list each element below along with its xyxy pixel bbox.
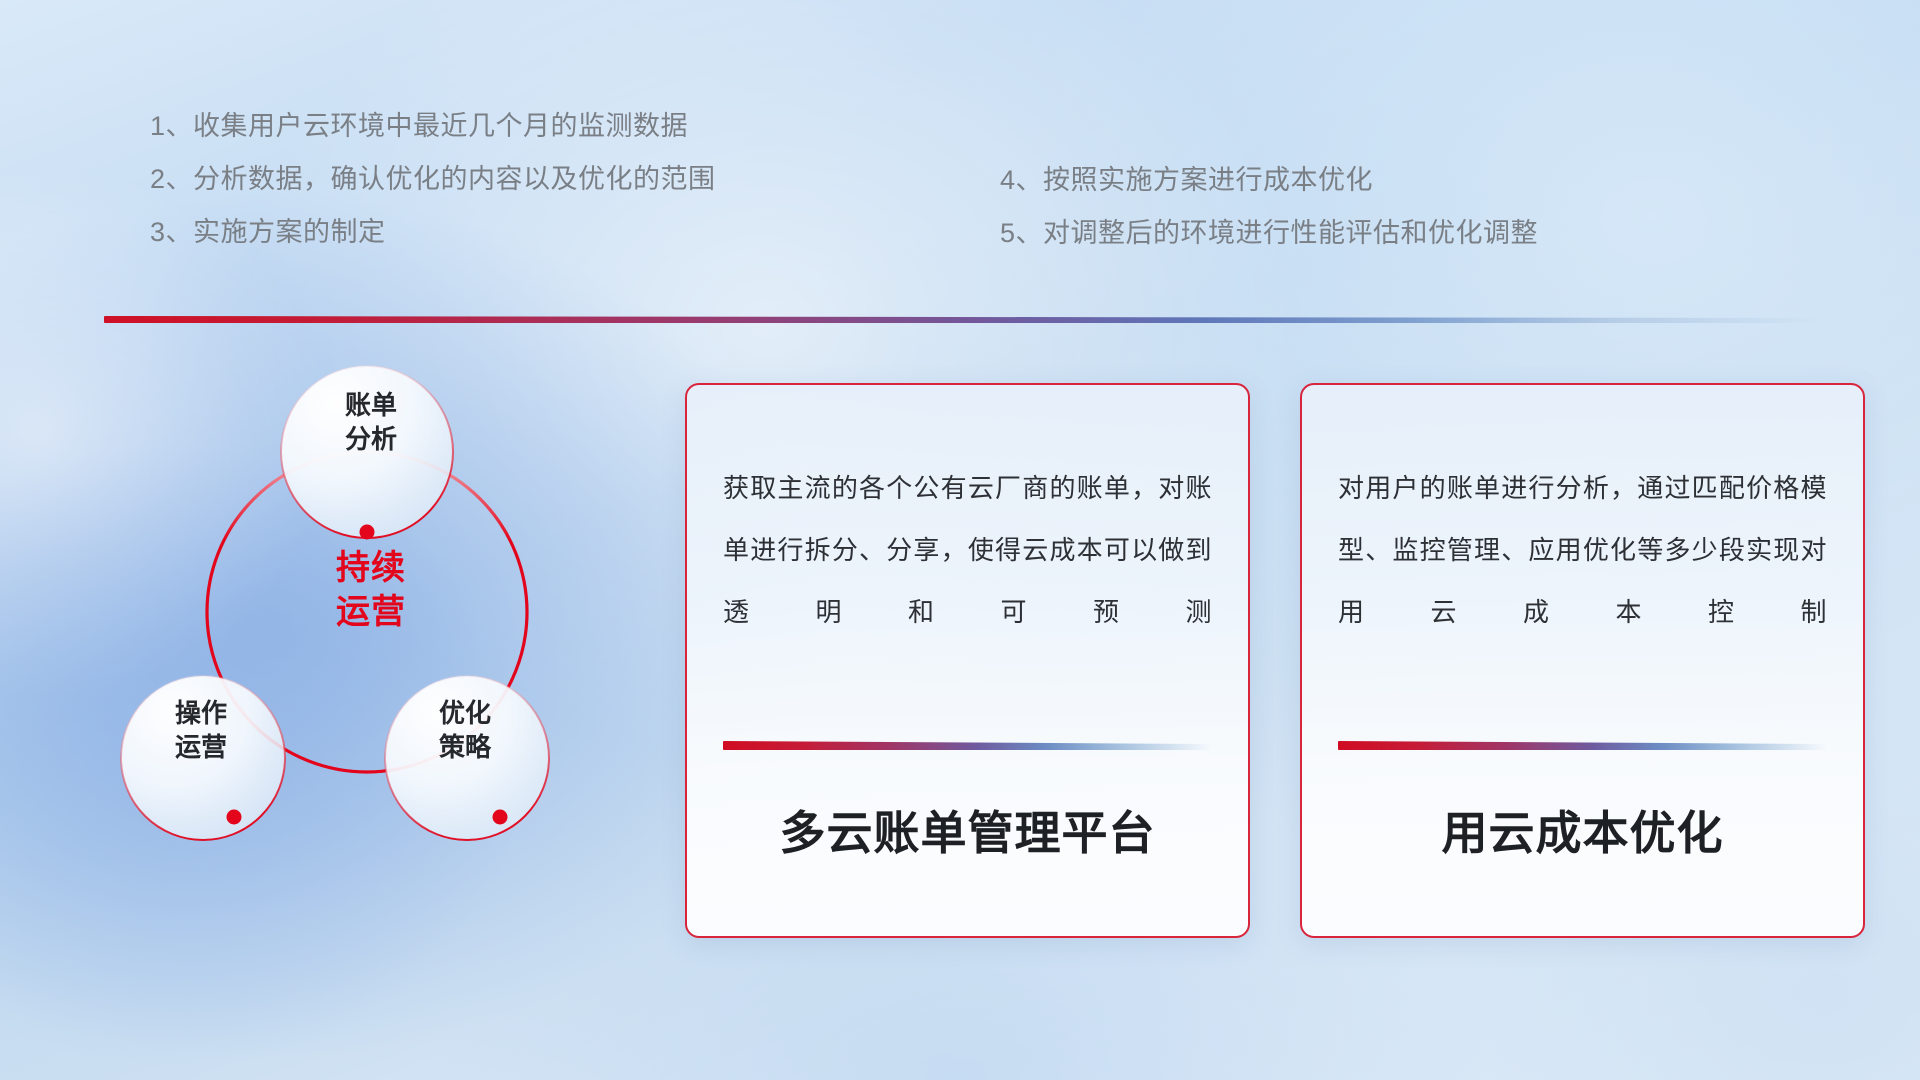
diagram-center-label-line1: 持续 [281, 546, 461, 590]
step-item-3: 3、实施方案的制定 [150, 206, 716, 259]
node-label-operations-line2: 运营 [121, 730, 281, 764]
card-title: 多云账单管理平台 [687, 797, 1248, 863]
node-label-operations-line1: 操作 [121, 696, 281, 730]
node-label-billing-analysis: 账单 分析 [291, 388, 451, 456]
connector-dot-right [493, 810, 508, 825]
card-cloud-cost-optimization[interactable]: 对用户的账单进行分析，通过匹配价格模型、监控管理、应用优化等多少段实现对用云成本… [1300, 383, 1865, 938]
card-divider [1338, 741, 1827, 750]
node-label-billing-analysis-line1: 账单 [291, 388, 451, 422]
card-title: 用云成本优化 [1302, 797, 1863, 863]
step-item-4: 4、按照实施方案进行成本优化 [1000, 154, 1538, 207]
diagram-center-label-line2: 运营 [281, 590, 461, 634]
card-body-text: 获取主流的各个公有云厂商的账单，对账单进行拆分、分享，使得云成本可以做到透明和可… [723, 457, 1212, 643]
card-multi-cloud-billing-platform[interactable]: 获取主流的各个公有云厂商的账单，对账单进行拆分、分享，使得云成本可以做到透明和可… [685, 383, 1250, 938]
node-label-billing-analysis-line2: 分析 [291, 422, 451, 456]
node-label-optimization-line2: 策略 [385, 730, 545, 764]
step-item-2: 2、分析数据，确认优化的内容以及优化的范围 [150, 153, 716, 206]
continuous-operations-diagram: 账单 分析 操作 运营 优化 策略 持续 运营 [95, 340, 635, 940]
connector-dot-top [360, 525, 375, 540]
card-body-text: 对用户的账单进行分析，通过匹配价格模型、监控管理、应用优化等多少段实现对用云成本… [1338, 457, 1827, 643]
step-item-5: 5、对调整后的环境进行性能评估和优化调整 [1000, 207, 1538, 260]
steps-left-column: 1、收集用户云环境中最近几个月的监测数据 2、分析数据，确认优化的内容以及优化的… [150, 100, 716, 259]
connector-dot-left [227, 810, 242, 825]
diagram-center-label: 持续 运营 [281, 546, 461, 634]
node-label-optimization: 优化 策略 [385, 696, 545, 764]
node-label-operations: 操作 运营 [121, 696, 281, 764]
card-divider [723, 741, 1212, 750]
step-item-1: 1、收集用户云环境中最近几个月的监测数据 [150, 100, 716, 153]
steps-right-column: 4、按照实施方案进行成本优化 5、对调整后的环境进行性能评估和优化调整 [1000, 154, 1538, 260]
node-label-optimization-line1: 优化 [385, 696, 545, 730]
